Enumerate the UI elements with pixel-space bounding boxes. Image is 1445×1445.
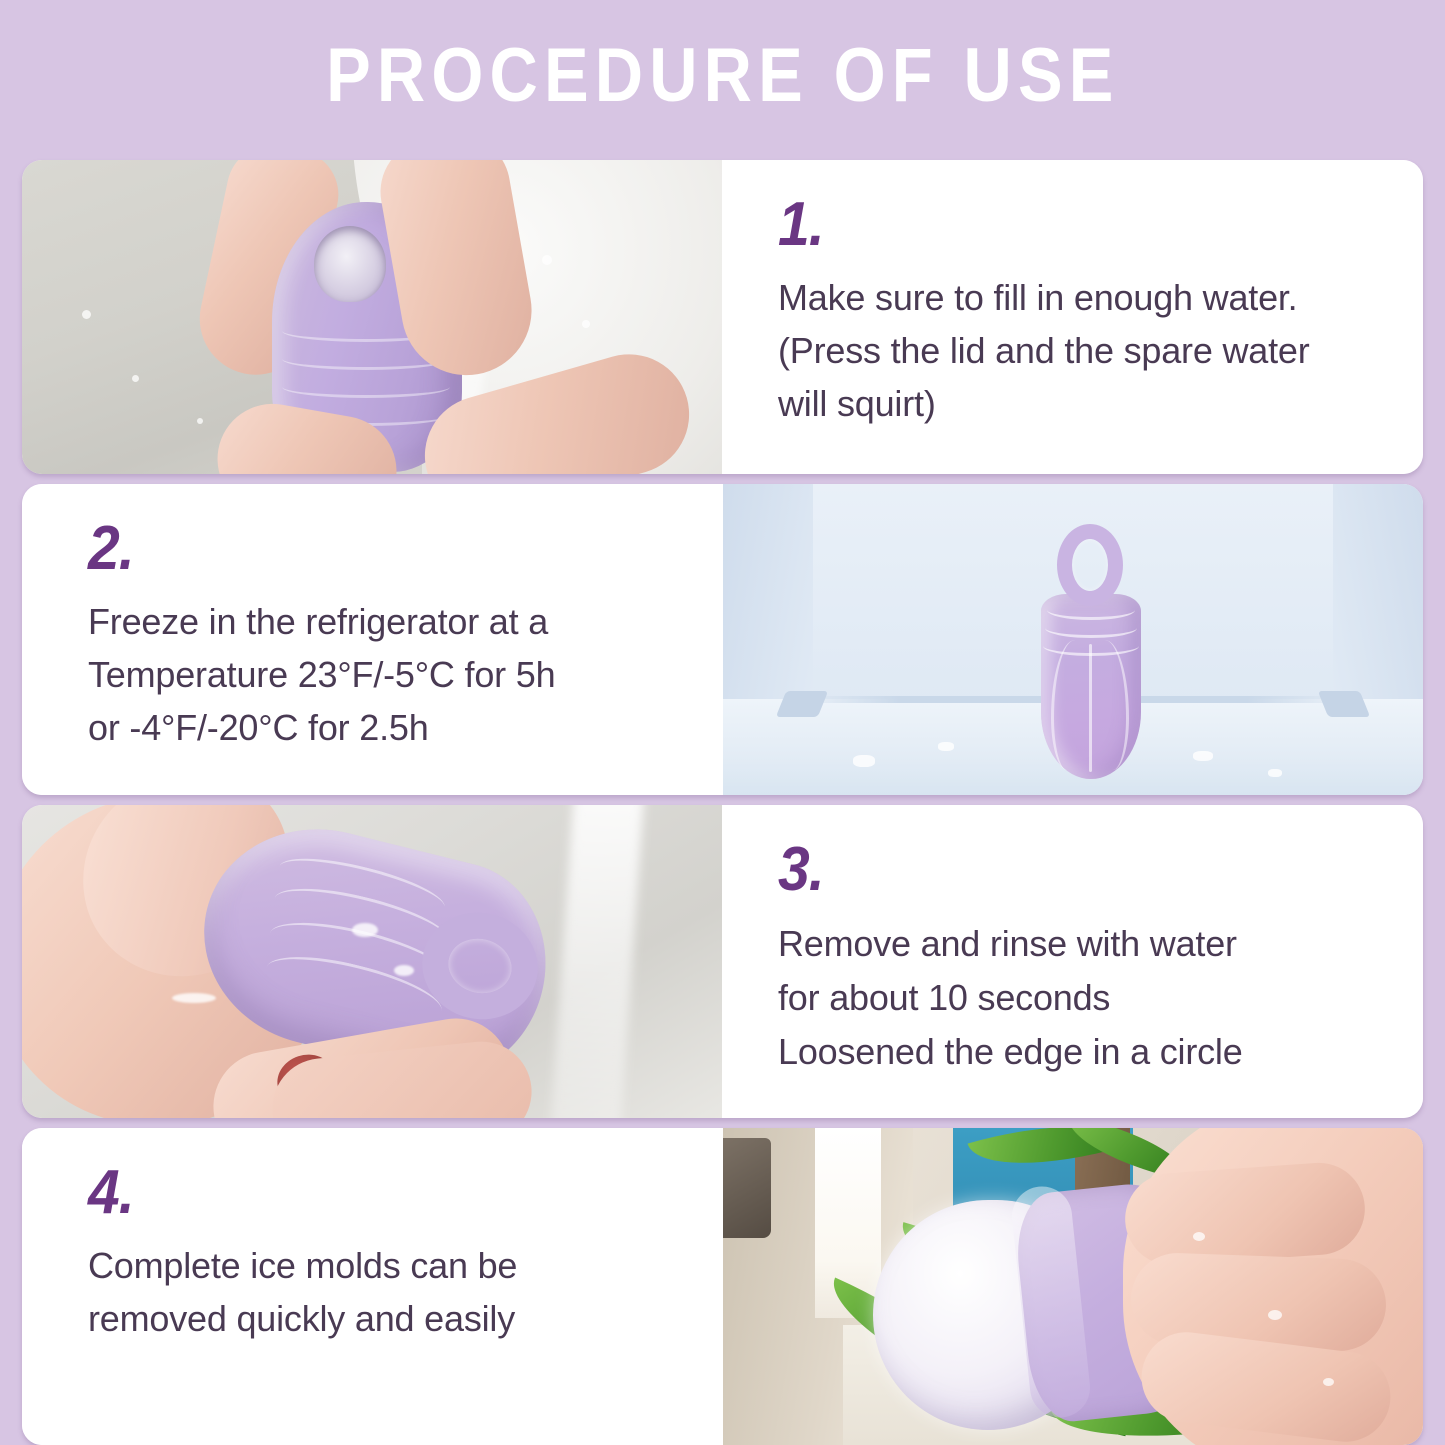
water-droplet-shape (1323, 1378, 1334, 1386)
page-header: PROCEDURE OF USE (0, 0, 1445, 150)
frost-fleck-shape (853, 755, 875, 767)
water-droplet-shape (1193, 1232, 1205, 1241)
mold-seam-shape (1089, 644, 1092, 772)
step-3-photo (22, 805, 722, 1118)
step-card-1: 1. Make sure to fill in enough water. (P… (22, 160, 1423, 474)
mold-loop-handle-shape (1057, 524, 1123, 606)
water-stream-shape (550, 805, 645, 1118)
step-4-photo (723, 1128, 1423, 1445)
mold-rib-shape (1047, 600, 1135, 620)
mold-rib-shape (282, 376, 450, 398)
step-3-description: Remove and rinse with water for about 10… (778, 917, 1379, 1079)
frost-fleck-shape (1193, 751, 1213, 761)
step-4-description: Complete ice molds can be removed quickl… (88, 1240, 679, 1346)
window-latch-shape (723, 1138, 771, 1238)
water-droplet-shape (542, 255, 552, 265)
step-3-number: 3. (778, 839, 1331, 901)
step-card-4: 4. Complete ice molds can be removed qui… (22, 1128, 1423, 1445)
step-card-2: 2. Freeze in the refrigerator at a Tempe… (22, 484, 1423, 795)
water-droplet-shape (582, 320, 590, 328)
water-gloss-shape (172, 993, 216, 1003)
frost-fleck-shape (938, 742, 954, 751)
water-droplet-shape (132, 375, 139, 382)
frost-fleck-shape (1268, 769, 1282, 777)
step-3-text-pane: 3. Remove and rinse with water for about… (722, 805, 1423, 1118)
finger-shape (1122, 1160, 1368, 1269)
step-1-description: Make sure to fill in enough water. (Pres… (778, 272, 1379, 431)
step-2-text-pane: 2. Freeze in the refrigerator at a Tempe… (22, 484, 723, 795)
mold-opening-shape (314, 226, 386, 302)
page-title: PROCEDURE OF USE (326, 32, 1119, 119)
step-4-number: 4. (88, 1162, 632, 1224)
steps-list: 1. Make sure to fill in enough water. (P… (22, 160, 1423, 1445)
step-2-description: Freeze in the refrigerator at a Temperat… (88, 596, 679, 755)
water-gloss-shape (352, 923, 378, 937)
step-card-3: 3. Remove and rinse with water for about… (22, 805, 1423, 1118)
water-droplet-shape (197, 418, 203, 424)
step-2-number: 2. (88, 518, 632, 580)
water-gloss-shape (394, 965, 414, 976)
step-1-text-pane: 1. Make sure to fill in enough water. (P… (722, 160, 1423, 474)
step-4-text-pane: 4. Complete ice molds can be removed qui… (22, 1128, 723, 1445)
step-1-photo (22, 160, 722, 474)
water-droplet-shape (82, 310, 91, 319)
water-droplet-shape (1268, 1310, 1282, 1320)
mold-rib-shape (1045, 618, 1137, 638)
step-2-photo (723, 484, 1423, 795)
step-1-number: 1. (778, 194, 1331, 256)
